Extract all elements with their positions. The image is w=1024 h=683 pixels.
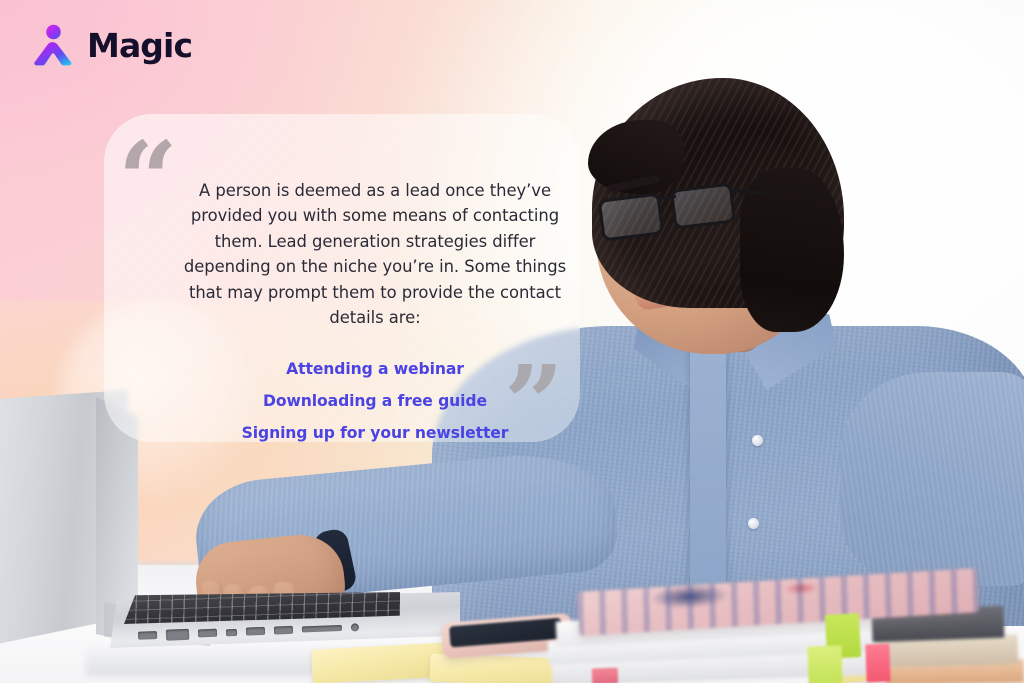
- usb-port-icon: [274, 626, 293, 635]
- list-item: Downloading a free guide: [263, 388, 487, 415]
- shirt-button: [748, 518, 759, 529]
- lead-trigger-list: Attending a webinar Downloading a free g…: [176, 356, 574, 447]
- eyeglasses-lens-near: [598, 192, 665, 241]
- quote-content: A person is deemed as a lead once they’v…: [176, 178, 574, 447]
- magic-m-mark-icon: [34, 24, 74, 66]
- shirt-button: [752, 435, 763, 446]
- ethernet-port-icon: [166, 628, 189, 640]
- list-item: Attending a webinar: [286, 356, 464, 383]
- brand-logo[interactable]: Magic: [34, 24, 192, 66]
- smartphone-screen: [449, 618, 562, 648]
- brand-wordmark: Magic: [87, 29, 192, 62]
- page-tab-pink: [865, 644, 890, 683]
- page-tab-pink: [592, 668, 619, 683]
- list-item: Signing up for your newsletter: [242, 420, 509, 447]
- promo-graphic-canvas: “ ” A person is deemed as a lead once th…: [0, 0, 1024, 683]
- page-tab-green: [807, 645, 842, 683]
- shirt-placket: [690, 336, 726, 586]
- mini-port-icon: [226, 628, 237, 635]
- usb-port-icon: [198, 629, 217, 638]
- right-arm: [840, 372, 1024, 586]
- quote-paragraph: A person is deemed as a lead once they’v…: [176, 178, 574, 330]
- usb-port-icon: [246, 627, 265, 636]
- audio-jack-icon: [351, 623, 359, 631]
- usb-port-icon: [138, 631, 157, 640]
- open-quote-icon: “: [118, 128, 180, 232]
- sd-card-slot-icon: [302, 625, 342, 633]
- eyeglasses-lens-far: [670, 182, 736, 229]
